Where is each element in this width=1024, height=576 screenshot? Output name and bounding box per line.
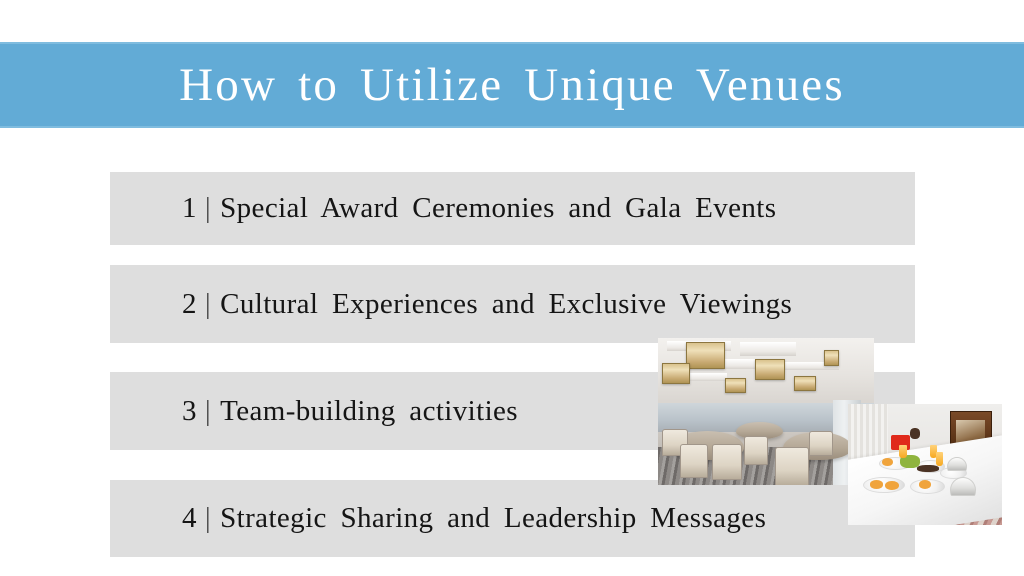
list-item-1-label: 1 | Special Award Ceremonies and Gala Ev… (110, 172, 915, 245)
list-item-1-number: 1 (182, 192, 197, 225)
buffet-dark-food (917, 465, 939, 472)
banquet-chair (744, 436, 768, 464)
list-item-1-separator: | (197, 192, 220, 225)
slide-canvas: How to Utilize Unique Venues 1 | Special… (0, 0, 1024, 576)
list-item-4-text: Strategic Sharing and Leadership Message… (220, 502, 766, 535)
list-item-1-text: Special Award Ceremonies and Gala Events (220, 192, 776, 225)
buffet-juice-glass (899, 445, 907, 458)
buffet-orange-food (870, 480, 884, 488)
buffet-table-photo (848, 404, 1002, 525)
banquet-chair (775, 447, 809, 485)
list-item-2-text: Cultural Experiences and Exclusive Viewi… (220, 288, 792, 321)
list-item-4[interactable]: 4 | Strategic Sharing and Leadership Mes… (110, 480, 915, 557)
banquet-pendant-lamp (794, 376, 815, 391)
banquet-chair (712, 444, 742, 480)
list-item-2-number: 2 (182, 288, 197, 321)
buffet-dark-figurine (910, 428, 921, 439)
buffet-juice-glass (936, 452, 944, 465)
banquet-pendant-lamp (824, 350, 839, 367)
list-item-2-label: 2 | Cultural Experiences and Exclusive V… (110, 265, 915, 343)
list-item-2-separator: | (197, 288, 220, 321)
banquet-chair (680, 444, 708, 478)
banquet-pendant-lamp (686, 342, 725, 369)
banquet-pendant-lamp (755, 359, 785, 380)
list-item-3-number: 3 (182, 395, 197, 428)
banquet-ceiling-slab (740, 342, 796, 355)
buffet-orange-food (885, 481, 899, 489)
buffet-orange-food (882, 458, 893, 465)
list-item-2[interactable]: 2 | Cultural Experiences and Exclusive V… (110, 265, 915, 343)
list-item-1[interactable]: 1 | Special Award Ceremonies and Gala Ev… (110, 172, 915, 245)
list-item-4-label: 4 | Strategic Sharing and Leadership Mes… (110, 480, 915, 557)
buffet-orange-food (919, 480, 931, 488)
banquet-hall-photo (658, 338, 874, 485)
banquet-chair (809, 431, 833, 457)
list-item-3-text: Team-building activities (220, 395, 518, 428)
list-item-4-number: 4 (182, 502, 197, 535)
buffet-silver-cloche (947, 457, 967, 471)
banquet-pendant-lamp (662, 363, 690, 384)
list-item-3-separator: | (197, 395, 220, 428)
list-item-4-separator: | (197, 502, 220, 535)
banquet-pendant-lamp (725, 378, 746, 393)
